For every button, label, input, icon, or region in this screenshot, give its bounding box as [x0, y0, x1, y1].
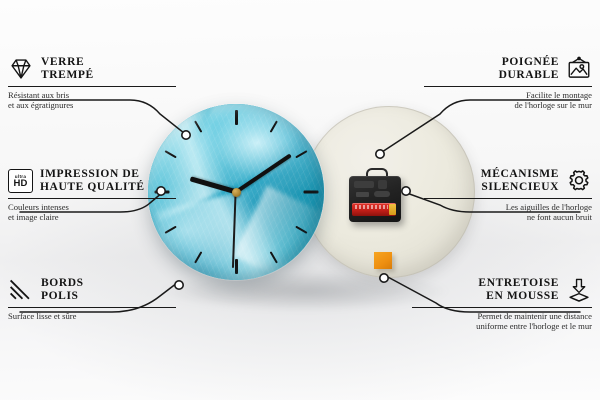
callout-title-entretoise: ENTRETOISE EN MOUSSE — [478, 277, 559, 303]
callout-sub1-entretoise: Permet de maintenir une distance — [412, 311, 592, 321]
callout-entretoise-en-mousse: ENTRETOISE EN MOUSSE Permet de maintenir… — [412, 277, 592, 332]
callout-rule-mecanisme — [424, 198, 592, 199]
battery-label-stripe — [355, 205, 388, 209]
callout-sub1-verre-trempe: Résistant aux bris — [8, 90, 176, 100]
callout-sub1-poignee: Facilite le montage — [424, 90, 592, 100]
callout-sub2-entretoise: uniforme entre l'horloge et le mur — [412, 321, 592, 331]
callout-header-impression: ultra HD IMPRESSION DE HAUTE QUALITÉ — [8, 168, 176, 194]
infographic-canvas: VERRE TREMPÉ Résistant aux bris et aux é… — [0, 0, 600, 400]
callout-sub1-impression: Couleurs intenses — [8, 202, 176, 212]
callout-rule-bords-polis — [8, 307, 176, 308]
callout-header-verre-trempe: VERRE TREMPÉ — [8, 56, 176, 82]
ultra-hd-badge-bottom: HD — [13, 179, 27, 189]
callout-mecanisme-silencieux: MÉCANISME SILENCIEUX Les aiguilles de l'… — [424, 168, 592, 223]
callout-impression: ultra HD IMPRESSION DE HAUTE QUALITÉ Cou… — [8, 168, 176, 223]
movement-detail-1 — [354, 181, 374, 188]
ultra-hd-badge-icon: ultra HD — [8, 169, 33, 193]
foam-spacer — [374, 252, 392, 269]
diamond-icon — [8, 56, 34, 82]
callout-header-mecanisme: MÉCANISME SILENCIEUX — [424, 168, 592, 194]
callout-rule-poignee — [424, 86, 592, 87]
callout-sub2-poignee: de l'horloge sur le mur — [424, 100, 592, 110]
callout-title-verre-trempe: VERRE TREMPÉ — [41, 56, 94, 82]
hanging-picture-frame-icon — [566, 56, 592, 82]
callout-bords-polis: BORDS POLIS Surface lisse et sûre — [8, 277, 176, 321]
callout-sub2-impression: et image claire — [8, 212, 176, 222]
callout-title-mecanisme: MÉCANISME SILENCIEUX — [481, 168, 559, 194]
callout-rule-impression — [8, 198, 176, 199]
callout-header-entretoise: ENTRETOISE EN MOUSSE — [412, 277, 592, 303]
callout-sub1-bords-polis: Surface lisse et sûre — [8, 311, 176, 321]
callout-sub2-verre-trempe: et aux égratignures — [8, 100, 176, 110]
callout-rule-entretoise — [412, 307, 592, 308]
callout-header-bords-polis: BORDS POLIS — [8, 277, 176, 303]
callout-title-impression: IMPRESSION DE HAUTE QUALITÉ — [40, 168, 145, 194]
callout-sub1-mecanisme: Les aiguilles de l'horloge — [424, 202, 592, 212]
arrow-down-layers-icon — [566, 277, 592, 303]
callout-title-poignee: POIGNÉE DURABLE — [499, 56, 559, 82]
battery-positive-cap — [389, 204, 396, 215]
movement-detail-3 — [356, 192, 369, 197]
callout-title-bords-polis: BORDS POLIS — [41, 277, 84, 303]
diagonal-lines-icon — [8, 277, 34, 303]
callout-poignee-durable: POIGNÉE DURABLE Facilite le montage de l… — [424, 56, 592, 111]
callout-rule-verre-trempe — [8, 86, 176, 87]
callout-sub2-mecanisme: ne font aucun bruit — [424, 212, 592, 222]
callout-header-poignee: POIGNÉE DURABLE — [424, 56, 592, 82]
movement-detail-2 — [378, 180, 387, 189]
gear-icon — [566, 168, 592, 194]
movement-detail-4 — [374, 191, 390, 197]
callout-verre-trempe: VERRE TREMPÉ Résistant aux bris et aux é… — [8, 56, 176, 111]
